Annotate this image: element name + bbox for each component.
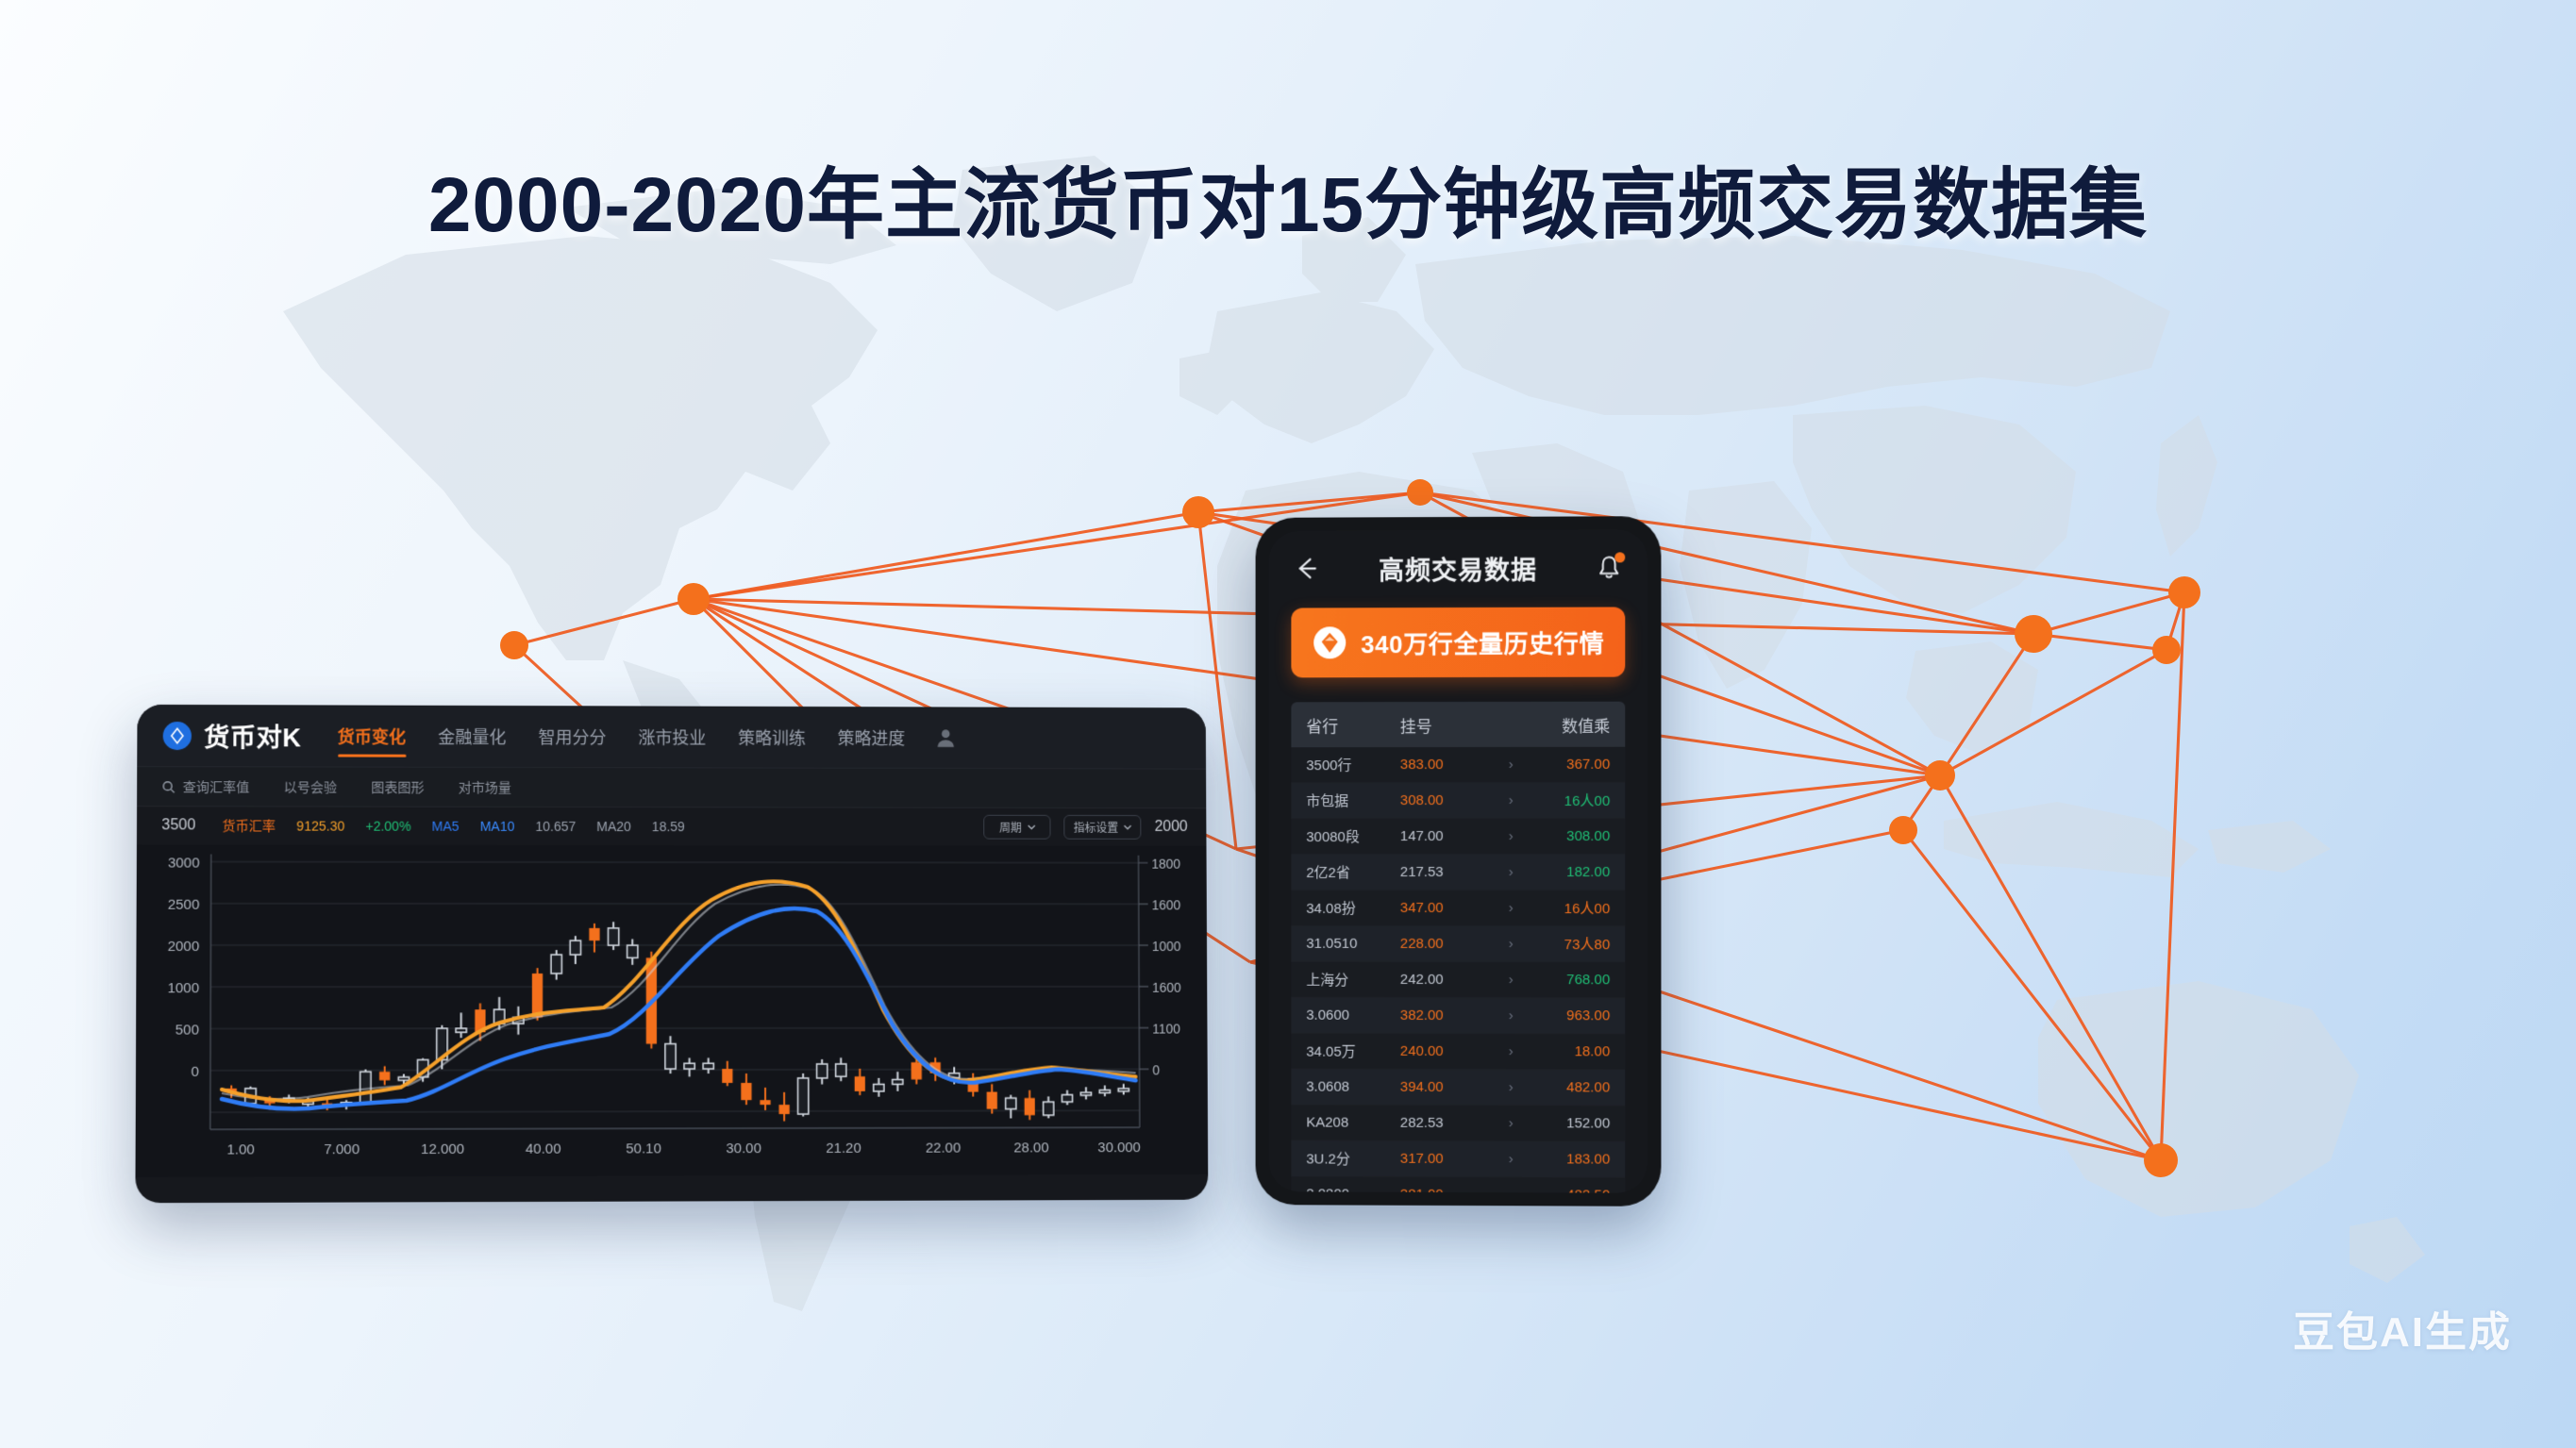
- cell-name: 34.08扮: [1306, 898, 1400, 918]
- cell-name: 3500行: [1306, 755, 1400, 774]
- svg-text:1600: 1600: [1152, 897, 1181, 912]
- chart-info-row: 3500 货币汇率 9125.30 +2.00% MA5 MA10 10.657…: [137, 807, 1207, 846]
- phone-header: 高频交易数据: [1269, 529, 1648, 606]
- chevron-right-icon: ›: [1491, 757, 1531, 773]
- indicator-dropdown-label: 指标设置: [1074, 819, 1119, 835]
- chevron-right-icon: ›: [1491, 900, 1531, 916]
- brand: 货币对K: [162, 717, 302, 754]
- phone-screen: 高频交易数据 340万行全量历史行情 省行 挂号 数值乘: [1269, 529, 1648, 1193]
- chevron-down-icon: [1124, 824, 1132, 830]
- desktop-subnav: 查询汇率值 以号会验 图表图形 对市场量: [137, 767, 1206, 808]
- cell-mid: 282.53: [1400, 1115, 1492, 1131]
- chevron-right-icon: ›: [1491, 792, 1531, 808]
- svg-text:1600: 1600: [1152, 980, 1181, 995]
- cell-name: 30080段: [1306, 826, 1400, 846]
- svg-text:1800: 1800: [1151, 857, 1180, 872]
- svg-text:28.00: 28.00: [1013, 1140, 1048, 1156]
- svg-text:1000: 1000: [167, 980, 199, 996]
- chevron-right-icon: ›: [1491, 936, 1531, 952]
- svg-text:30.000: 30.000: [1097, 1140, 1140, 1156]
- cell-mid: 381.00: [1400, 1187, 1492, 1193]
- nav-item-3[interactable]: 涨市投业: [638, 706, 706, 767]
- table-row[interactable]: 30080段147.00›308.00: [1291, 819, 1625, 855]
- phone-title: 高频交易数据: [1321, 549, 1595, 587]
- cell-value: 18.00: [1531, 1043, 1610, 1059]
- bell-icon[interactable]: [1595, 553, 1623, 581]
- legend-item-1: 9125.30: [296, 819, 344, 834]
- cell-mid: 383.00: [1400, 757, 1492, 773]
- legend-item-2: +2.00%: [365, 819, 410, 834]
- cell-mid: 382.00: [1400, 1007, 1492, 1024]
- svg-text:1000: 1000: [1152, 939, 1181, 954]
- market-data-table: 省行 挂号 数值乘 3500行383.00›367.00市包据308.00›16…: [1291, 702, 1625, 1193]
- chevron-right-icon: ›: [1491, 1151, 1531, 1167]
- nav-item-0[interactable]: 货币变化: [338, 706, 407, 767]
- axis-top-right-value: 2000: [1155, 819, 1188, 836]
- axis-top-left-value: 3500: [161, 817, 195, 834]
- svg-text:2000: 2000: [168, 939, 200, 955]
- cell-value: 152.00: [1531, 1115, 1610, 1131]
- svg-text:2500: 2500: [168, 897, 200, 913]
- cell-name: 3.0608: [1306, 1079, 1400, 1095]
- cell-value: 16人00: [1531, 791, 1610, 810]
- table-row[interactable]: 3U.2分317.00›183.00: [1291, 1140, 1625, 1177]
- candlestick-chart-svg: 3000 2500 2000 1000 500 0 1800 1600 1000…: [135, 844, 1208, 1177]
- col-header-2: 数值乘: [1531, 712, 1610, 736]
- cell-mid: 317.00: [1400, 1151, 1492, 1167]
- chevron-right-icon: ›: [1491, 864, 1531, 880]
- table-row[interactable]: 2亿2省217.53›182.00: [1291, 855, 1625, 890]
- chevron-down-icon: [1028, 824, 1036, 830]
- chevron-right-icon: ›: [1491, 1115, 1531, 1131]
- table-row[interactable]: 3.0608394.00›482.00: [1291, 1070, 1625, 1107]
- svg-text:30.00: 30.00: [726, 1140, 761, 1157]
- svg-text:0: 0: [1152, 1062, 1160, 1077]
- nav-item-1[interactable]: 金融量化: [438, 706, 506, 767]
- svg-text:21.20: 21.20: [826, 1140, 861, 1157]
- cell-name: 3.0800: [1306, 1186, 1400, 1192]
- table-row[interactable]: 31.0510228.00›73人80: [1291, 926, 1625, 962]
- cell-mid: 228.00: [1400, 936, 1492, 952]
- diamond-logo-icon: [162, 720, 192, 750]
- table-row[interactable]: 34.05万240.00›18.00: [1291, 1034, 1625, 1071]
- svg-text:1100: 1100: [1152, 1022, 1180, 1037]
- legend-item-6: MA20: [596, 819, 631, 834]
- legend-item-7: 18.59: [652, 819, 685, 834]
- legend-item-5: 10.657: [535, 819, 576, 834]
- table-row[interactable]: 3500行383.00›367.00: [1291, 747, 1625, 783]
- cell-value: 16人00: [1531, 898, 1610, 918]
- desktop-chart-card: 货币对K 货币变化 金融量化 智用分分 涨市投业 策略训练 策略进度 查询汇率值…: [135, 705, 1208, 1203]
- period-dropdown-label: 周期: [999, 819, 1022, 835]
- cell-name: KA208: [1306, 1115, 1400, 1131]
- table-row[interactable]: 3.0800381.00›482.50: [1291, 1176, 1625, 1192]
- cell-mid: 308.00: [1400, 792, 1492, 808]
- legend-item-0: 货币汇率: [223, 816, 276, 835]
- subnav-item-1[interactable]: 以号会验: [284, 777, 337, 796]
- chevron-right-icon: ›: [1491, 828, 1531, 844]
- subnav-item-0[interactable]: 查询汇率值: [161, 777, 249, 796]
- chevron-right-icon: ›: [1491, 1187, 1531, 1193]
- cell-value: 308.00: [1531, 828, 1610, 844]
- svg-text:22.00: 22.00: [926, 1140, 961, 1157]
- table-row[interactable]: 34.08扮347.00›16人00: [1291, 890, 1625, 926]
- cell-value: 183.00: [1531, 1151, 1610, 1167]
- svg-text:50.10: 50.10: [626, 1140, 661, 1157]
- svg-text:1.00: 1.00: [226, 1141, 255, 1157]
- svg-text:7.000: 7.000: [324, 1141, 360, 1157]
- page-title: 2000-2020年主流货币对15分钟级高频交易数据集: [0, 141, 2576, 254]
- desktop-nav: 货币变化 金融量化 智用分分 涨市投业 策略训练 策略进度: [338, 706, 906, 768]
- subnav-label-0: 查询汇率值: [183, 777, 250, 796]
- cell-value: 963.00: [1531, 1007, 1610, 1024]
- legend-item-3: MA5: [432, 819, 460, 834]
- subnav-item-2[interactable]: 图表图形: [371, 777, 424, 796]
- svg-text:3000: 3000: [168, 855, 200, 871]
- table-row[interactable]: 上海分242.00›768.00: [1291, 962, 1625, 998]
- svg-text:0: 0: [191, 1064, 199, 1080]
- back-arrow-icon[interactable]: [1293, 555, 1321, 583]
- subnav-item-3[interactable]: 对市场量: [459, 777, 511, 796]
- period-dropdown-button[interactable]: 周期: [984, 815, 1051, 840]
- col-header-0: 省行: [1306, 713, 1400, 737]
- svg-text:40.00: 40.00: [526, 1141, 561, 1157]
- col-header-1: 挂号: [1400, 712, 1492, 736]
- cell-name: 3U.2分: [1306, 1148, 1400, 1168]
- cell-mid: 217.53: [1400, 864, 1492, 880]
- cell-mid: 347.00: [1400, 900, 1492, 916]
- table-header-row: 省行 挂号 数值乘: [1291, 702, 1625, 748]
- chevron-right-icon: ›: [1491, 1043, 1531, 1059]
- banner-label: 340万行全量历史行情: [1361, 624, 1604, 660]
- cell-value: 367.00: [1531, 757, 1610, 773]
- chevron-right-icon: ›: [1491, 1079, 1531, 1095]
- cell-mid: 394.00: [1400, 1079, 1492, 1095]
- history-data-banner[interactable]: 340万行全量历史行情: [1291, 607, 1625, 677]
- table-row[interactable]: KA208282.53›152.00: [1291, 1105, 1625, 1141]
- nav-item-4[interactable]: 策略训练: [738, 707, 806, 768]
- cell-name: 市包据: [1306, 791, 1400, 810]
- nav-item-5[interactable]: 策略进度: [838, 707, 906, 768]
- cell-name: 31.0510: [1306, 936, 1400, 952]
- candlestick-chart[interactable]: 3000 2500 2000 1000 500 0 1800 1600 1000…: [135, 844, 1208, 1177]
- brand-name: 货币对K: [204, 717, 301, 754]
- cell-name: 3.0600: [1306, 1007, 1400, 1024]
- cell-mid: 240.00: [1400, 1043, 1492, 1059]
- user-avatar-icon[interactable]: [933, 725, 958, 750]
- legend-item-4: MA10: [480, 819, 515, 834]
- table-row[interactable]: 市包据308.00›16人00: [1291, 783, 1625, 819]
- table-body: 3500行383.00›367.00市包据308.00›16人0030080段1…: [1291, 747, 1625, 1193]
- cell-value: 482.50: [1531, 1187, 1610, 1192]
- table-row[interactable]: 3.0600382.00›963.00: [1291, 998, 1625, 1035]
- cell-mid: 147.00: [1400, 828, 1492, 844]
- search-icon: [161, 780, 175, 793]
- cell-name: 上海分: [1306, 970, 1400, 990]
- cell-value: 482.00: [1531, 1079, 1610, 1095]
- indicator-dropdown-button[interactable]: 指标设置: [1064, 815, 1142, 840]
- chart-toolbar: 周期 指标设置 2000: [984, 815, 1188, 840]
- chevron-right-icon: ›: [1491, 972, 1531, 988]
- cell-mid: 242.00: [1400, 972, 1492, 988]
- nav-item-2[interactable]: 智用分分: [538, 706, 606, 767]
- chart-legend: 货币汇率 9125.30 +2.00% MA5 MA10 10.657 MA20…: [223, 816, 685, 836]
- cell-value: 768.00: [1531, 972, 1610, 988]
- svg-text:12.000: 12.000: [421, 1141, 464, 1157]
- svg-text:500: 500: [176, 1022, 199, 1038]
- desktop-topbar: 货币对K 货币变化 金融量化 智用分分 涨市投业 策略训练 策略进度: [137, 705, 1206, 770]
- notification-badge: [1614, 552, 1625, 562]
- cell-value: 182.00: [1531, 864, 1610, 880]
- cell-value: 73人80: [1531, 934, 1610, 954]
- phone-mockup: 高频交易数据 340万行全量历史行情 省行 挂号 数值乘: [1256, 516, 1662, 1207]
- diamond-badge-icon: [1312, 624, 1347, 660]
- cell-name: 2亿2省: [1306, 862, 1400, 882]
- chevron-right-icon: ›: [1491, 1007, 1531, 1024]
- cell-name: 34.05万: [1306, 1041, 1400, 1061]
